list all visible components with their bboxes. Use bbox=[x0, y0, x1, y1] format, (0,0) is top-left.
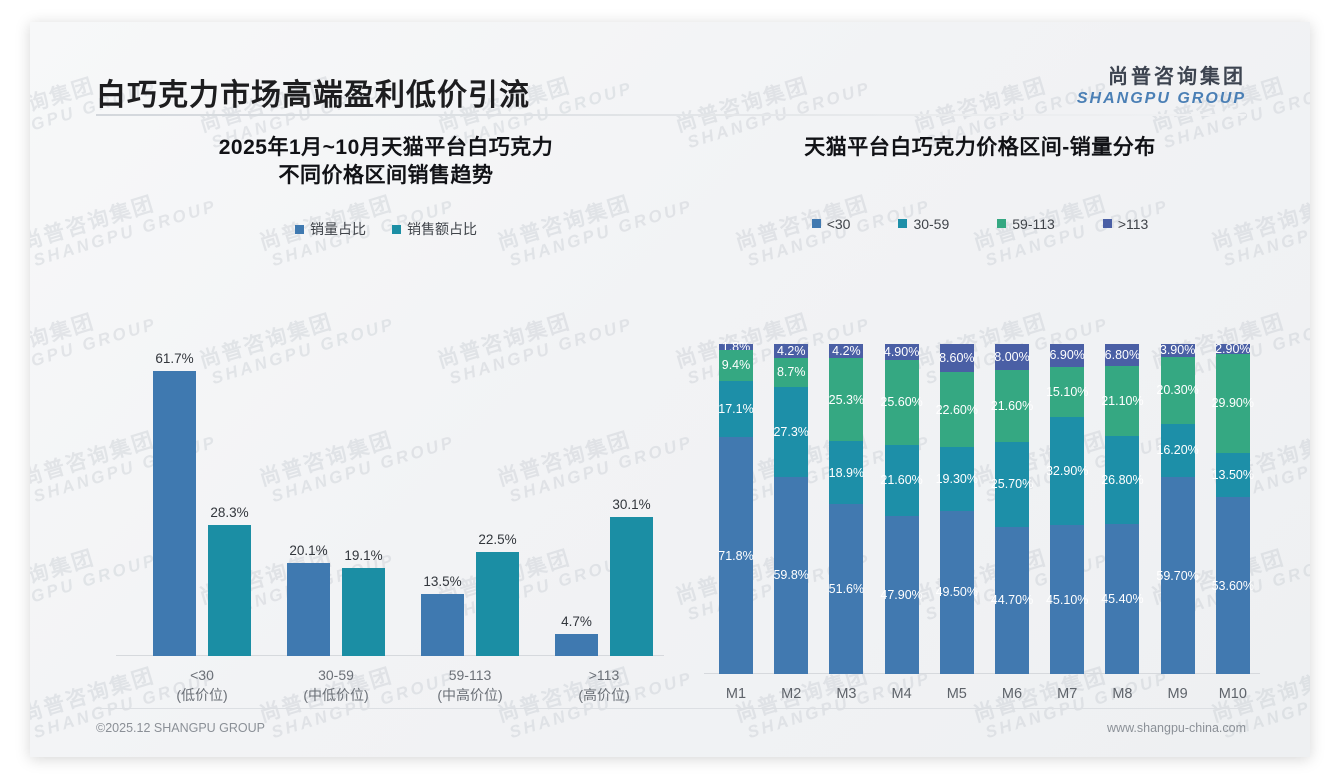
legend-swatch-icon bbox=[1103, 219, 1112, 228]
chart-title-line1: 天猫平台白巧克力价格区间-销量分布 bbox=[690, 134, 1270, 162]
chart-panel-sales-trend: 2025年1月~10月天猫平台白巧克力 不同价格区间销售趋势 销量占比销售额占比… bbox=[96, 134, 676, 704]
stacked-bar-stack: 1.8%9.4%17.1%71.8% bbox=[719, 344, 753, 674]
stacked-bar-stack: 6.80%21.10%26.80%45.40% bbox=[1105, 344, 1139, 674]
bar-59-113-销售额占比[interactable]: 22.5% bbox=[476, 552, 519, 656]
bar-rect bbox=[421, 594, 464, 656]
stack-segment-label: 25.70% bbox=[991, 477, 1033, 491]
stack-segment-label: 6.90% bbox=[1049, 348, 1084, 362]
legend-item-销售额占比[interactable]: 销售额占比 bbox=[392, 219, 477, 239]
stack-segment-30-59: 25.70% bbox=[995, 442, 1029, 527]
stack-segment-30-59: 32.90% bbox=[1050, 417, 1084, 526]
stack-segment-30-59: 21.60% bbox=[885, 445, 919, 516]
bar-group-30-59: 20.1%19.1%30-59(中低价位) bbox=[276, 563, 396, 656]
footer-website: www.shangpu-china.com bbox=[1107, 721, 1246, 735]
stack-segment-label: 21.60% bbox=[880, 473, 922, 487]
bar-value-label: 22.5% bbox=[478, 532, 516, 547]
bar-rect bbox=[476, 552, 519, 656]
legend-item-销量占比[interactable]: 销量占比 bbox=[295, 219, 366, 239]
stack-segment-label: 32.90% bbox=[1046, 464, 1088, 478]
stack-segment->113: 2.90% bbox=[1216, 344, 1250, 354]
stack-segment-59-113: 29.90% bbox=[1216, 354, 1250, 453]
stack-segment-30-59: 26.80% bbox=[1105, 436, 1139, 524]
x-axis-label-<30: <30(低价位) bbox=[142, 665, 262, 706]
x-axis-label-M6: M6 bbox=[986, 686, 1038, 702]
x-axis-label-M1: M1 bbox=[710, 686, 762, 702]
bar-rect bbox=[153, 371, 196, 656]
stack-segment->113: 4.2% bbox=[829, 344, 863, 358]
bar-value-label: 28.3% bbox=[210, 505, 248, 520]
x-axis-label-M4: M4 bbox=[876, 686, 928, 702]
chart-legend-sales-trend: 销量占比销售额占比 bbox=[96, 219, 676, 239]
bar-rect bbox=[208, 525, 251, 656]
stack-segment-30-59: 13.50% bbox=[1216, 453, 1250, 498]
x-axis-label-M8: M8 bbox=[1096, 686, 1148, 702]
stacked-bar-M1[interactable]: 1.8%9.4%17.1%71.8%M1 bbox=[710, 344, 762, 674]
stacked-bar-M5[interactable]: 8.60%22.60%19.30%49.50%M5 bbox=[931, 344, 983, 674]
stacked-bar-M10[interactable]: 2.90%29.90%13.50%53.60%M10 bbox=[1207, 344, 1259, 674]
stacked-bar-stack: 4.2%8.7%27.3%59.8% bbox=[774, 344, 808, 674]
stack-segment-<30: 45.40% bbox=[1105, 524, 1139, 674]
legend-label: 销售额占比 bbox=[407, 219, 477, 239]
bar-value-label: 61.7% bbox=[155, 351, 193, 366]
bar-<30-销量占比[interactable]: 61.7% bbox=[153, 371, 196, 656]
stack-segment-label: 49.50% bbox=[936, 585, 978, 599]
bar-rect bbox=[342, 568, 385, 656]
stack-segment->113: 8.60% bbox=[940, 344, 974, 372]
bar-<30-销售额占比[interactable]: 28.3% bbox=[208, 525, 251, 656]
x-axis-label-M10: M10 bbox=[1207, 686, 1259, 702]
stack-segment-label: 4.2% bbox=[832, 344, 861, 358]
stack-segment-label: 16.20% bbox=[1156, 443, 1198, 457]
stack-segment-label: 19.30% bbox=[936, 472, 978, 486]
bar-rect bbox=[610, 517, 653, 656]
bar-value-label: 13.5% bbox=[423, 574, 461, 589]
stack-segment->113: 6.90% bbox=[1050, 344, 1084, 367]
stack-segment-label: 25.60% bbox=[880, 395, 922, 409]
stack-segment-label: 6.80% bbox=[1105, 348, 1140, 362]
stack-segment-59-113: 8.7% bbox=[774, 358, 808, 387]
x-axis-label-M7: M7 bbox=[1041, 686, 1093, 702]
stack-segment-label: 4.2% bbox=[777, 344, 806, 358]
stack-segment-<30: 51.6% bbox=[829, 504, 863, 674]
legend-swatch-icon bbox=[812, 219, 821, 228]
stack-segment-label: 71.8% bbox=[718, 549, 753, 563]
stack-segment-<30: 45.10% bbox=[1050, 525, 1084, 674]
legend-item-30-59[interactable]: 30-59 bbox=[898, 216, 949, 232]
stacked-bar-M4[interactable]: 4.90%25.60%21.60%47.90%M4 bbox=[876, 344, 928, 674]
stack-segment-59-113: 22.60% bbox=[940, 372, 974, 447]
stack-segment-label: 59.70% bbox=[1156, 569, 1198, 583]
stacked-bar-plot-area: 1.8%9.4%17.1%71.8%M14.2%8.7%27.3%59.8%M2… bbox=[704, 306, 1260, 714]
chart-title-line1: 2025年1月~10月天猫平台白巧克力 bbox=[96, 134, 676, 162]
bar-30-59-销售额占比[interactable]: 19.1% bbox=[342, 568, 385, 656]
stack-segment-label: 25.3% bbox=[829, 393, 864, 407]
stack-segment-30-59: 16.20% bbox=[1161, 424, 1195, 477]
x-axis-label-M5: M5 bbox=[931, 686, 983, 702]
legend-label: <30 bbox=[827, 216, 851, 232]
bar-59-113-销量占比[interactable]: 13.5% bbox=[421, 594, 464, 656]
slide-header: 白巧克力市场高端盈利低价引流 尚普咨询集团 SHANGPU GROUP bbox=[30, 22, 1310, 112]
stacked-bar-stack: 4.90%25.60%21.60%47.90% bbox=[885, 344, 919, 674]
stack-segment-30-59: 17.1% bbox=[719, 381, 753, 437]
stack-segment-label: 27.3% bbox=[773, 425, 808, 439]
x-axis-label->113: >113(高价位) bbox=[544, 665, 664, 706]
stack-segment-label: 45.10% bbox=[1046, 593, 1088, 607]
footer-divider bbox=[96, 708, 1246, 709]
stack-segment-label: 26.80% bbox=[1101, 473, 1143, 487]
stack-segment->113: 6.80% bbox=[1105, 344, 1139, 366]
stack-segment-label: 4.90% bbox=[884, 345, 919, 359]
bar-30-59-销量占比[interactable]: 20.1% bbox=[287, 563, 330, 656]
stacked-bar-M6[interactable]: 8.00%21.60%25.70%44.70%M6 bbox=[986, 344, 1038, 674]
stack-segment->113: 4.2% bbox=[774, 344, 808, 358]
x-axis-label-M2: M2 bbox=[765, 686, 817, 702]
stack-segment-<30: 49.50% bbox=[940, 511, 974, 674]
stack-segment-59-113: 15.10% bbox=[1050, 367, 1084, 417]
stacked-bar-stack: 8.60%22.60%19.30%49.50% bbox=[940, 344, 974, 674]
bar-value-label: 4.7% bbox=[561, 614, 592, 629]
stacked-bar-stack: 6.90%15.10%32.90%45.10% bbox=[1050, 344, 1084, 674]
stacked-bar-stack: 4.2%25.3%18.9%51.6% bbox=[829, 344, 863, 674]
brand-logo: 尚普咨询集团 SHANGPU GROUP bbox=[1077, 60, 1246, 108]
stack-segment-label: 44.70% bbox=[991, 593, 1033, 607]
stack-segment-<30: 59.70% bbox=[1161, 477, 1195, 674]
stack-segment-label: 3.90% bbox=[1160, 343, 1195, 357]
stack-segment-<30: 47.90% bbox=[885, 516, 919, 674]
stack-segment-59-113: 9.4% bbox=[719, 350, 753, 381]
bar-value-label: 30.1% bbox=[612, 497, 650, 512]
slide-canvas: 尚普咨询集团SHANGPU GROUP尚普咨询集团SHANGPU GROUP尚普… bbox=[30, 22, 1310, 757]
stack-segment->113: 8.00% bbox=[995, 344, 1029, 370]
chart-panel-volume-distribution: 天猫平台白巧克力价格区间-销量分布 <3030-5959-113>113 1.8… bbox=[690, 134, 1270, 704]
stack-segment-label: 51.6% bbox=[829, 582, 864, 596]
stack-segment-label: 22.60% bbox=[936, 403, 978, 417]
stack-segment-label: 45.40% bbox=[1101, 592, 1143, 606]
stack-segment-label: 9.4% bbox=[722, 358, 751, 372]
bar-value-label: 20.1% bbox=[289, 543, 327, 558]
bar->113-销量占比[interactable]: 4.7% bbox=[555, 634, 598, 656]
x-axis-label-M3: M3 bbox=[820, 686, 872, 702]
stacked-bar-M8[interactable]: 6.80%21.10%26.80%45.40%M8 bbox=[1096, 344, 1148, 674]
stack-segment-label: 20.30% bbox=[1156, 383, 1198, 397]
stack-segment-label: 29.90% bbox=[1212, 396, 1254, 410]
header-divider bbox=[96, 114, 1246, 116]
bar-rect bbox=[287, 563, 330, 656]
stack-segment-<30: 71.8% bbox=[719, 437, 753, 674]
stacked-bar-stack: 3.90%20.30%16.20%59.70% bbox=[1161, 344, 1195, 674]
stack-segment-<30: 53.60% bbox=[1216, 497, 1250, 674]
stack-segment-30-59: 18.9% bbox=[829, 441, 863, 503]
legend-swatch-icon bbox=[392, 225, 401, 234]
legend-swatch-icon bbox=[295, 225, 304, 234]
stacked-bar-M9[interactable]: 3.90%20.30%16.20%59.70%M9 bbox=[1152, 344, 1204, 674]
stacked-bar-M7[interactable]: 6.90%15.10%32.90%45.10%M7 bbox=[1041, 344, 1093, 674]
x-axis-label-M9: M9 bbox=[1152, 686, 1204, 702]
stack-segment-30-59: 19.30% bbox=[940, 447, 974, 511]
footer-copyright: ©2025.12 SHANGPU GROUP bbox=[96, 721, 265, 735]
chart-legend-volume-distribution: <3030-5959-113>113 bbox=[690, 216, 1270, 232]
bar-group-59-113: 13.5%22.5%59-113(中高价位) bbox=[410, 552, 530, 656]
stack-segment-label: 18.9% bbox=[829, 466, 864, 480]
stacked-bar-stack: 2.90%29.90%13.50%53.60% bbox=[1216, 344, 1250, 674]
stack-segment-label: 47.90% bbox=[880, 588, 922, 602]
stacked-bar-M3[interactable]: 4.2%25.3%18.9%51.6%M3 bbox=[820, 344, 872, 674]
stack-segment-59-113: 21.10% bbox=[1105, 366, 1139, 436]
stack-segment-label: 53.60% bbox=[1212, 579, 1254, 593]
stack-segment-label: 17.1% bbox=[718, 402, 753, 416]
stack-segment-label: 13.50% bbox=[1212, 468, 1254, 482]
stack-segment-label: 8.60% bbox=[939, 351, 974, 365]
legend-label: >113 bbox=[1118, 216, 1149, 232]
stack-segment-59-113: 25.60% bbox=[885, 360, 919, 444]
chart-title-volume-distribution: 天猫平台白巧克力价格区间-销量分布 bbox=[690, 134, 1270, 162]
legend-item-59-113[interactable]: 59-113 bbox=[997, 216, 1055, 232]
stack-segment-<30: 44.70% bbox=[995, 527, 1029, 675]
bar-rect bbox=[555, 634, 598, 656]
stack-segment-label: 59.8% bbox=[773, 568, 808, 582]
legend-label: 59-113 bbox=[1012, 216, 1055, 232]
legend-label: 销量占比 bbox=[310, 219, 366, 239]
x-axis-label-30-59: 30-59(中低价位) bbox=[276, 665, 396, 706]
bar-group->113: 4.7%30.1%>113(高价位) bbox=[544, 517, 664, 656]
stack-segment-label: 8.7% bbox=[777, 365, 806, 379]
stack-segment-label: 21.10% bbox=[1101, 394, 1143, 408]
stack-segment-30-59: 27.3% bbox=[774, 387, 808, 477]
x-axis-label-59-113: 59-113(中高价位) bbox=[410, 665, 530, 706]
legend-item-<30[interactable]: <30 bbox=[812, 216, 851, 232]
stack-segment-59-113: 25.3% bbox=[829, 358, 863, 441]
bar-group-<30: 61.7%28.3%<30(低价位) bbox=[142, 371, 262, 656]
stack-segment-59-113: 21.60% bbox=[995, 370, 1029, 441]
stack-segment-label: 15.10% bbox=[1046, 385, 1088, 399]
stack-segment-<30: 59.8% bbox=[774, 477, 808, 674]
chart-title-sales-trend: 2025年1月~10月天猫平台白巧克力 不同价格区间销售趋势 bbox=[96, 134, 676, 189]
logo-english-text: SHANGPU GROUP bbox=[1077, 90, 1246, 108]
bar->113-销售额占比[interactable]: 30.1% bbox=[610, 517, 653, 656]
chart-title-line2: 不同价格区间销售趋势 bbox=[96, 162, 676, 190]
legend-swatch-icon bbox=[997, 219, 1006, 228]
stack-segment-59-113: 20.30% bbox=[1161, 357, 1195, 424]
stacked-bar-stack: 8.00%21.60%25.70%44.70% bbox=[995, 344, 1029, 674]
page-title: 白巧克力市场高端盈利低价引流 bbox=[96, 70, 530, 114]
legend-item->113[interactable]: >113 bbox=[1103, 216, 1149, 232]
legend-label: 30-59 bbox=[913, 216, 949, 232]
logo-chinese-text: 尚普咨询集团 bbox=[1077, 60, 1246, 89]
bar-value-label: 19.1% bbox=[344, 548, 382, 563]
stack-segment-label: 8.00% bbox=[994, 350, 1029, 364]
stack-segment->113: 4.90% bbox=[885, 344, 919, 360]
grouped-bar-plot-area: 61.7%28.3%<30(低价位)20.1%19.1%30-59(中低价位)1… bbox=[116, 306, 664, 714]
stack-segment-label: 21.60% bbox=[991, 399, 1033, 413]
legend-swatch-icon bbox=[898, 219, 907, 228]
stacked-bar-M2[interactable]: 4.2%8.7%27.3%59.8%M2 bbox=[765, 344, 817, 674]
stack-segment->113: 3.90% bbox=[1161, 344, 1195, 357]
